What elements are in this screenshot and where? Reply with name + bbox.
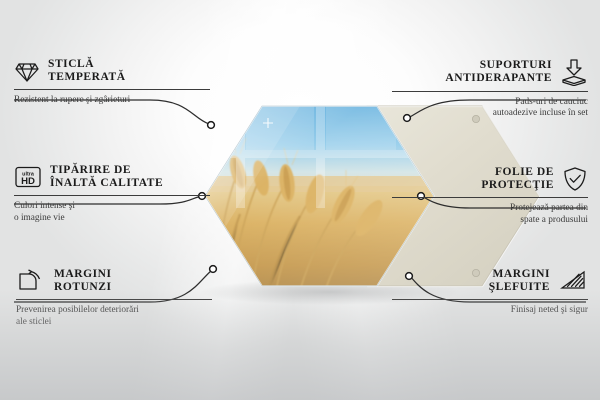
feature-high-quality-print: ultra HD TIPĂRIRE DE ÎNALTĂ CALITATE Cul… bbox=[14, 164, 210, 224]
feature-title: MARGINI ŞLEFUITE bbox=[489, 268, 550, 294]
feature-head: MARGINI ŞLEFUITE bbox=[392, 268, 588, 294]
product-infographic: STICLĂ TEMPERATĂ Rezistent la rupere şi … bbox=[0, 0, 600, 400]
feature-title: TIPĂRIRE DE ÎNALTĂ CALITATE bbox=[50, 164, 163, 190]
feature-subtitle: Pads-uri de cauciuc autoadezive incluse … bbox=[392, 97, 588, 120]
hatched-triangle-icon bbox=[558, 269, 588, 293]
feature-subtitle: Culori intense şi o imagine vie bbox=[14, 201, 210, 224]
feature-protective-foil: FOLIE DE PROTECŢIE Protejează partea din… bbox=[392, 166, 588, 226]
badge-bottom-label: HD bbox=[21, 176, 35, 187]
feature-subtitle: Finisaj neted şi sigur bbox=[392, 305, 588, 316]
feature-title: SUPORTURI ANTIDERAPANTE bbox=[445, 59, 552, 85]
feature-title: FOLIE DE PROTECŢIE bbox=[481, 166, 554, 192]
feature-polished-edges: MARGINI ŞLEFUITE Finisaj neted şi sigur bbox=[392, 268, 588, 317]
feature-tempered-glass: STICLĂ TEMPERATĂ Rezistent la rupere şi … bbox=[14, 58, 210, 107]
divider bbox=[14, 89, 210, 90]
divider bbox=[14, 195, 210, 196]
feature-title: MARGINI ROTUNZI bbox=[54, 268, 112, 294]
divider bbox=[392, 197, 588, 198]
feature-rounded-edges: MARGINI ROTUNZI Prevenirea posibilelor d… bbox=[16, 268, 212, 328]
feature-head: ultra HD TIPĂRIRE DE ÎNALTĂ CALITATE bbox=[14, 164, 210, 190]
divider bbox=[392, 299, 588, 300]
feature-head: FOLIE DE PROTECŢIE bbox=[392, 166, 588, 192]
diamond-icon bbox=[14, 59, 40, 83]
feature-title: STICLĂ TEMPERATĂ bbox=[48, 58, 126, 84]
rounded-corner-icon bbox=[16, 269, 46, 293]
ultra-hd-badge-icon: ultra HD bbox=[14, 165, 42, 189]
feature-head: MARGINI ROTUNZI bbox=[16, 268, 212, 294]
divider bbox=[392, 91, 588, 92]
feature-head: STICLĂ TEMPERATĂ bbox=[14, 58, 210, 84]
press-pad-icon bbox=[560, 58, 588, 86]
feature-subtitle: Protejează partea din spate a produsului bbox=[392, 203, 588, 226]
connector-dot-tempered bbox=[208, 122, 215, 129]
feature-antislip-pads: SUPORTURI ANTIDERAPANTE Pads-uri de cauc… bbox=[392, 58, 588, 120]
feature-head: SUPORTURI ANTIDERAPANTE bbox=[392, 58, 588, 86]
feature-subtitle: Rezistent la rupere şi zgârieturi bbox=[14, 95, 210, 106]
feature-subtitle: Prevenirea posibilelor deteriorări ale s… bbox=[16, 305, 212, 328]
shield-check-icon bbox=[562, 166, 588, 192]
divider bbox=[16, 299, 212, 300]
